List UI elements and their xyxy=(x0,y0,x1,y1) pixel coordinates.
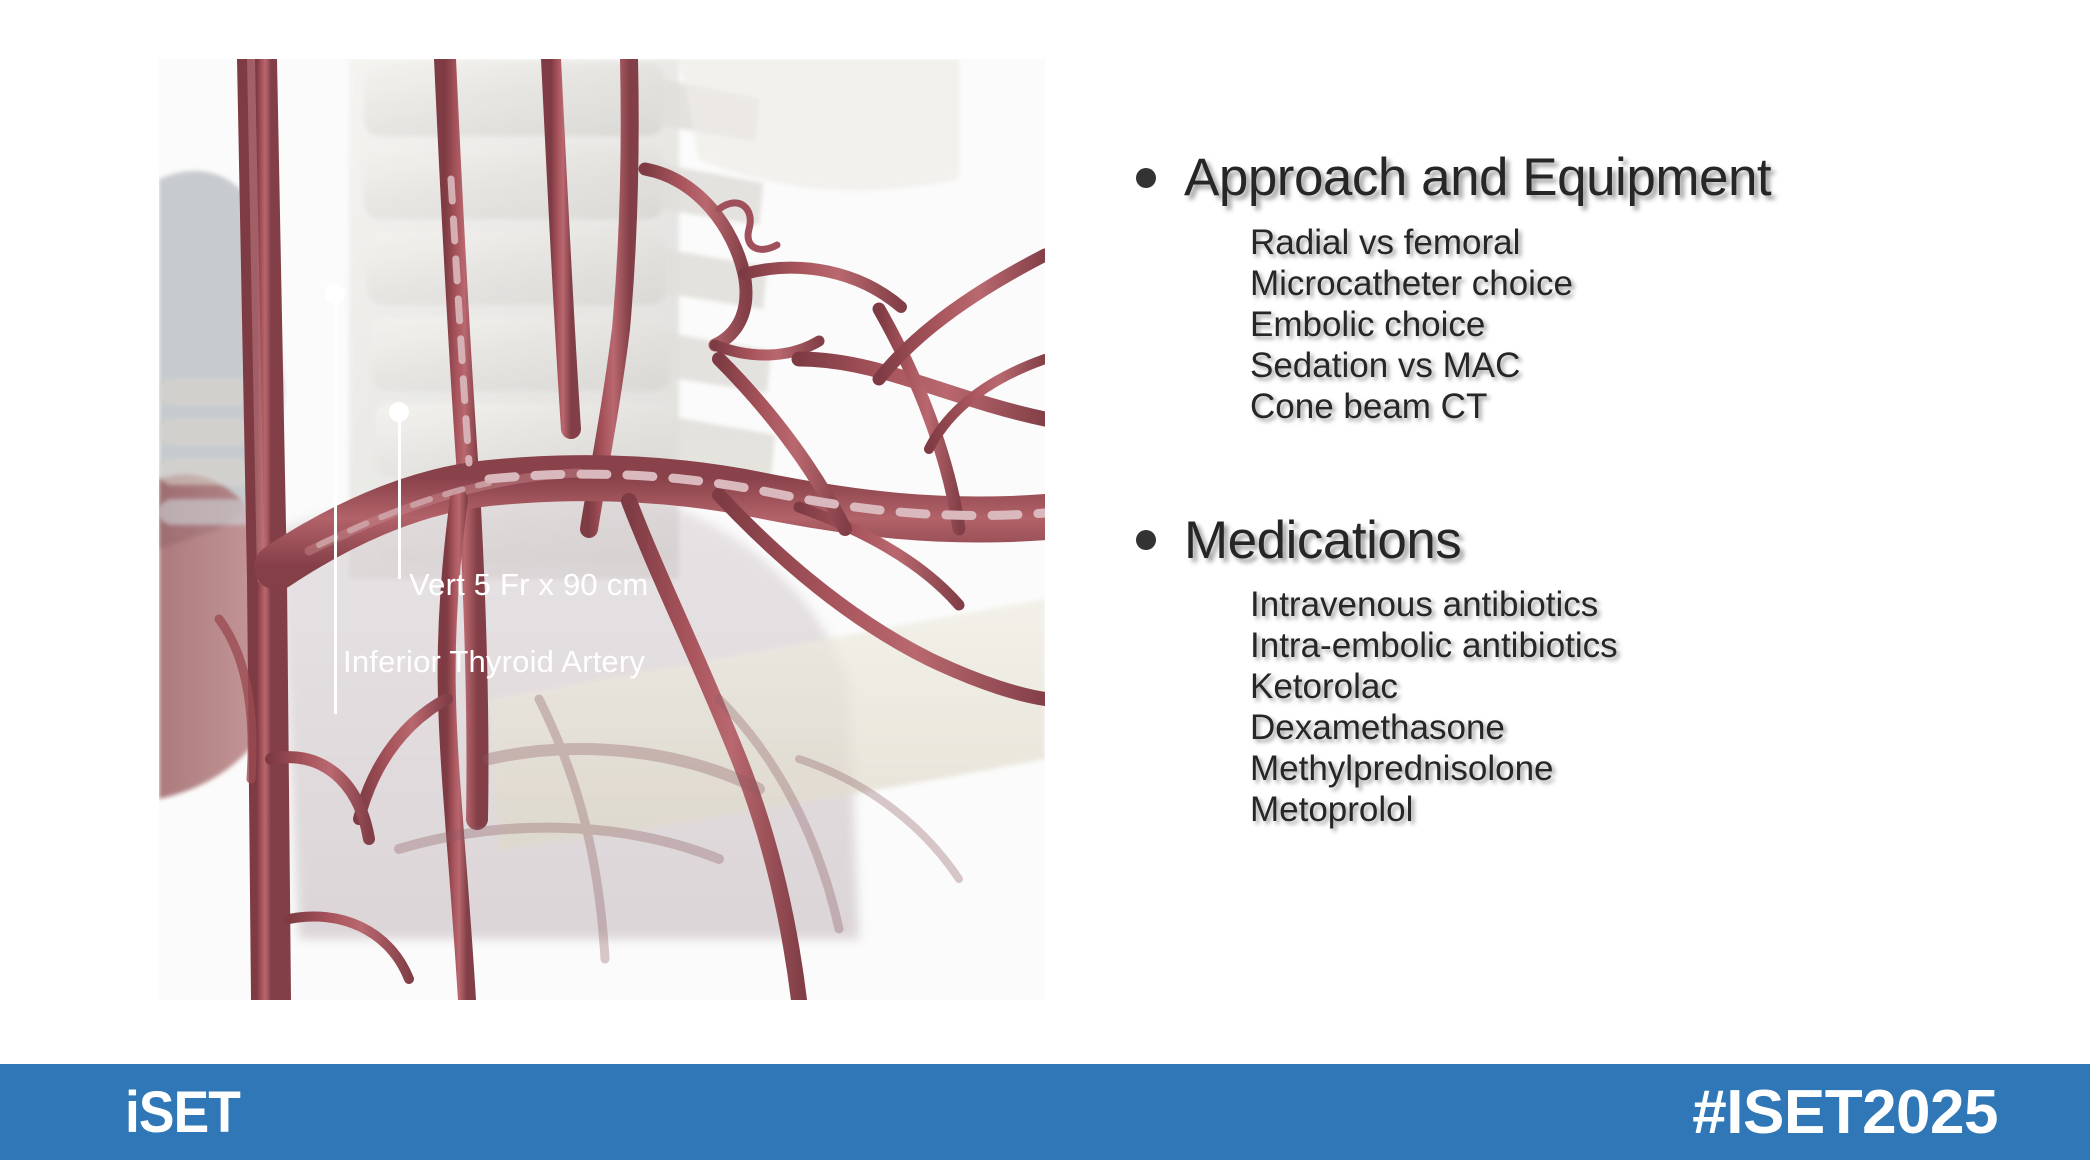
list-item: Radial vs femoral xyxy=(1250,222,2030,263)
topic-header: Approach and Equipment xyxy=(1130,150,2030,206)
topic-header: Medications xyxy=(1130,513,2030,569)
iset-logo: iSET xyxy=(125,1079,240,1146)
leader-line-vert-catheter xyxy=(398,412,401,579)
topic-medications: Medications Intravenous antibiotics Intr… xyxy=(1130,513,2030,831)
anatomy-render xyxy=(159,59,1045,1000)
list-item: Intravenous antibiotics xyxy=(1250,584,2030,625)
subitem-list: Intravenous antibiotics Intra-embolic an… xyxy=(1250,584,2030,830)
conference-hashtag: #ISET2025 xyxy=(1692,1077,1998,1148)
list-item: Intra-embolic antibiotics xyxy=(1250,625,2030,666)
list-item: Methylprednisolone xyxy=(1250,748,2030,789)
label-inferior-thyroid-artery: Inferior Thyroid Artery xyxy=(343,644,645,680)
subitem-list: Radial vs femoral Microcatheter choice E… xyxy=(1250,222,2030,427)
list-item: Sedation vs MAC xyxy=(1250,345,2030,386)
footer-bar: iSET #ISET2025 xyxy=(0,1064,2090,1160)
list-item: Microcatheter choice xyxy=(1250,263,2030,304)
label-vert-catheter: Vert 5 Fr x 90 cm xyxy=(409,567,648,603)
bullet-icon xyxy=(1136,168,1156,188)
bullet-icon xyxy=(1136,530,1156,550)
list-item: Dexamethasone xyxy=(1250,707,2030,748)
medical-illustration: Inferior Thyroid Artery Vert 5 Fr x 90 c… xyxy=(159,59,1045,1000)
topic-approach-and-equipment: Approach and Equipment Radial vs femoral… xyxy=(1130,150,2030,427)
leader-line-inferior-thyroid-artery xyxy=(334,294,337,714)
list-item: Cone beam CT xyxy=(1250,386,2030,427)
slide-outline: Approach and Equipment Radial vs femoral… xyxy=(1130,150,2030,830)
topic-title: Approach and Equipment xyxy=(1184,150,1771,206)
topic-title: Medications xyxy=(1184,513,1461,569)
list-item: Ketorolac xyxy=(1250,666,2030,707)
list-item: Embolic choice xyxy=(1250,304,2030,345)
list-item: Metoprolol xyxy=(1250,789,2030,830)
